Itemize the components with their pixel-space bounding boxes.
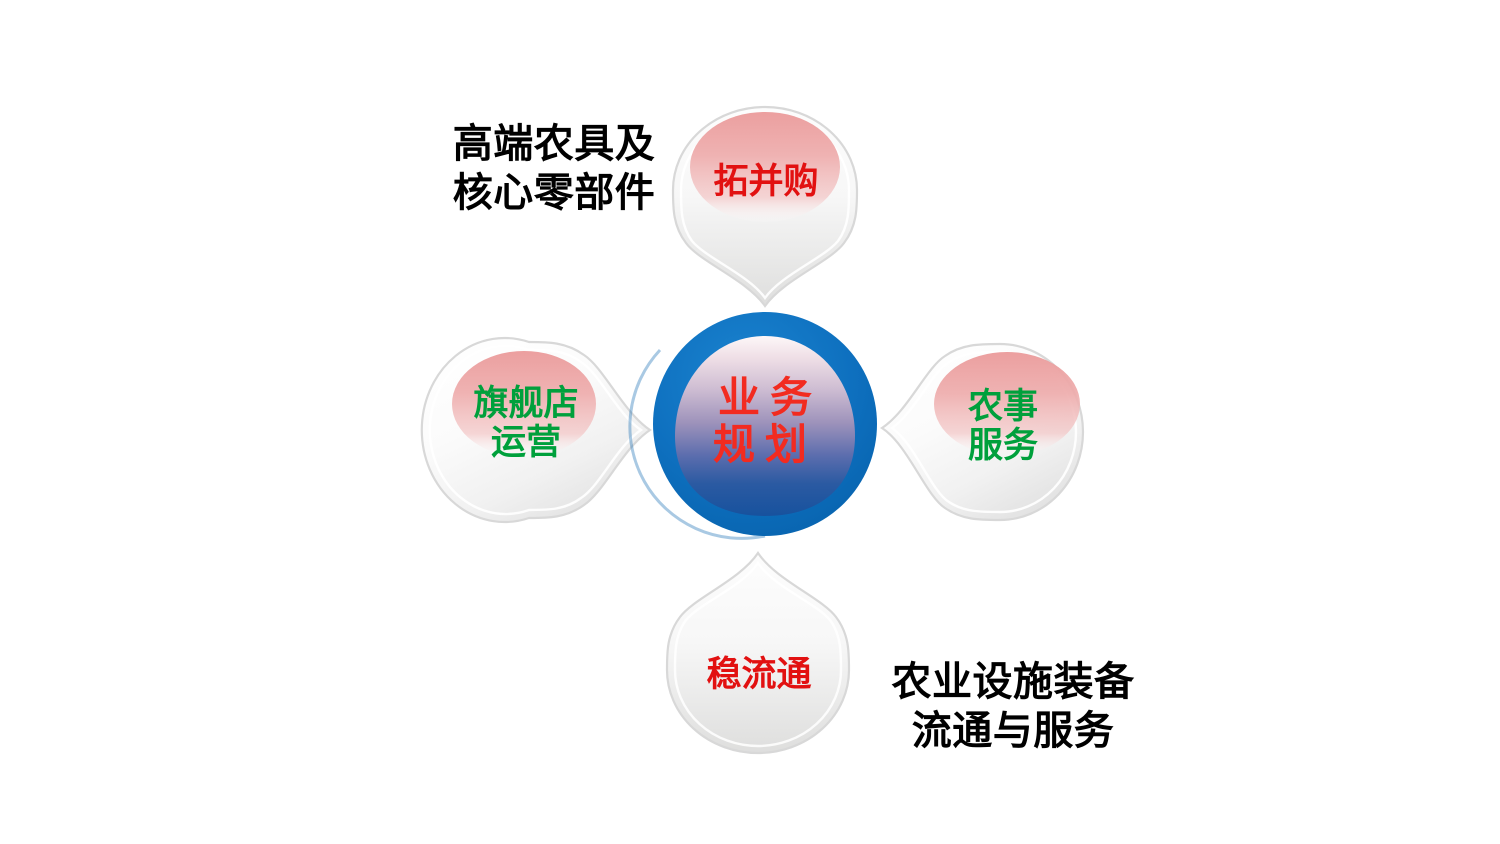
slide-canvas: 拓并购 旗舰店 运营 农事 服务 稳流通 业务 规划 高端农具及 核心零部件 农… xyxy=(0,0,1500,844)
node-bottom-shape[interactable] xyxy=(667,553,849,753)
callout-label-top-left: 高端农具及 核心零部件 xyxy=(434,120,674,218)
node-left-shape[interactable] xyxy=(422,338,650,522)
node-right-shape[interactable] xyxy=(882,344,1083,520)
center-hub-shape[interactable] xyxy=(630,312,877,538)
diagram-graphics xyxy=(0,0,1500,844)
node-top-shape[interactable] xyxy=(673,107,857,306)
callout-label-bottom-right: 农业设施装备 流通与服务 xyxy=(872,658,1154,756)
